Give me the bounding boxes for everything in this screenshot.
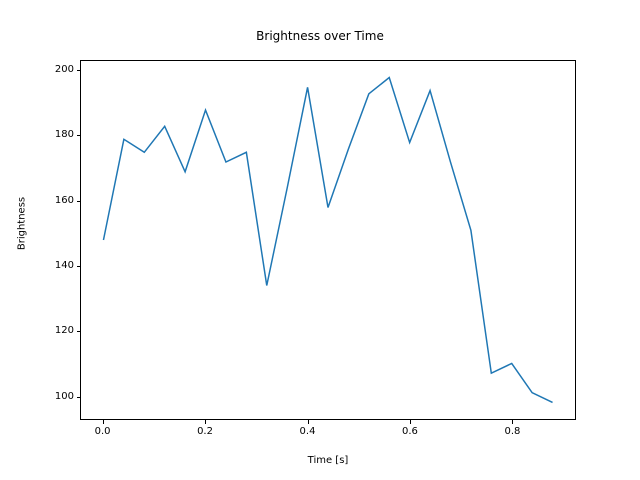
x-tick-label: 0.2 [185, 427, 225, 437]
x-tick-label: 0.8 [492, 427, 532, 437]
x-axis-label: Time [s] [80, 455, 576, 466]
y-tick-label: 100 [30, 392, 74, 402]
y-tick-label: 180 [30, 130, 74, 140]
brightness-line [103, 78, 552, 403]
y-tick-label: 160 [30, 196, 74, 206]
x-tick-mark [308, 420, 309, 424]
x-tick-mark [410, 420, 411, 424]
x-tick-label: 0.4 [288, 427, 328, 437]
y-tick-label: 140 [30, 261, 74, 271]
x-tick-mark [103, 420, 104, 424]
plot-area [80, 60, 576, 420]
x-tick-mark [512, 420, 513, 424]
x-tick-label: 0.6 [390, 427, 430, 437]
y-tick-label: 120 [30, 326, 74, 336]
figure-canvas: Brightness over Time Brightness Time [s]… [0, 0, 640, 480]
page-title: Brightness over Time [0, 28, 640, 44]
x-tick-mark [205, 420, 206, 424]
x-tick-label: 0.0 [83, 427, 123, 437]
data-line-series [81, 61, 575, 419]
y-axis-label: Brightness [17, 164, 28, 284]
y-tick-label: 200 [30, 65, 74, 75]
